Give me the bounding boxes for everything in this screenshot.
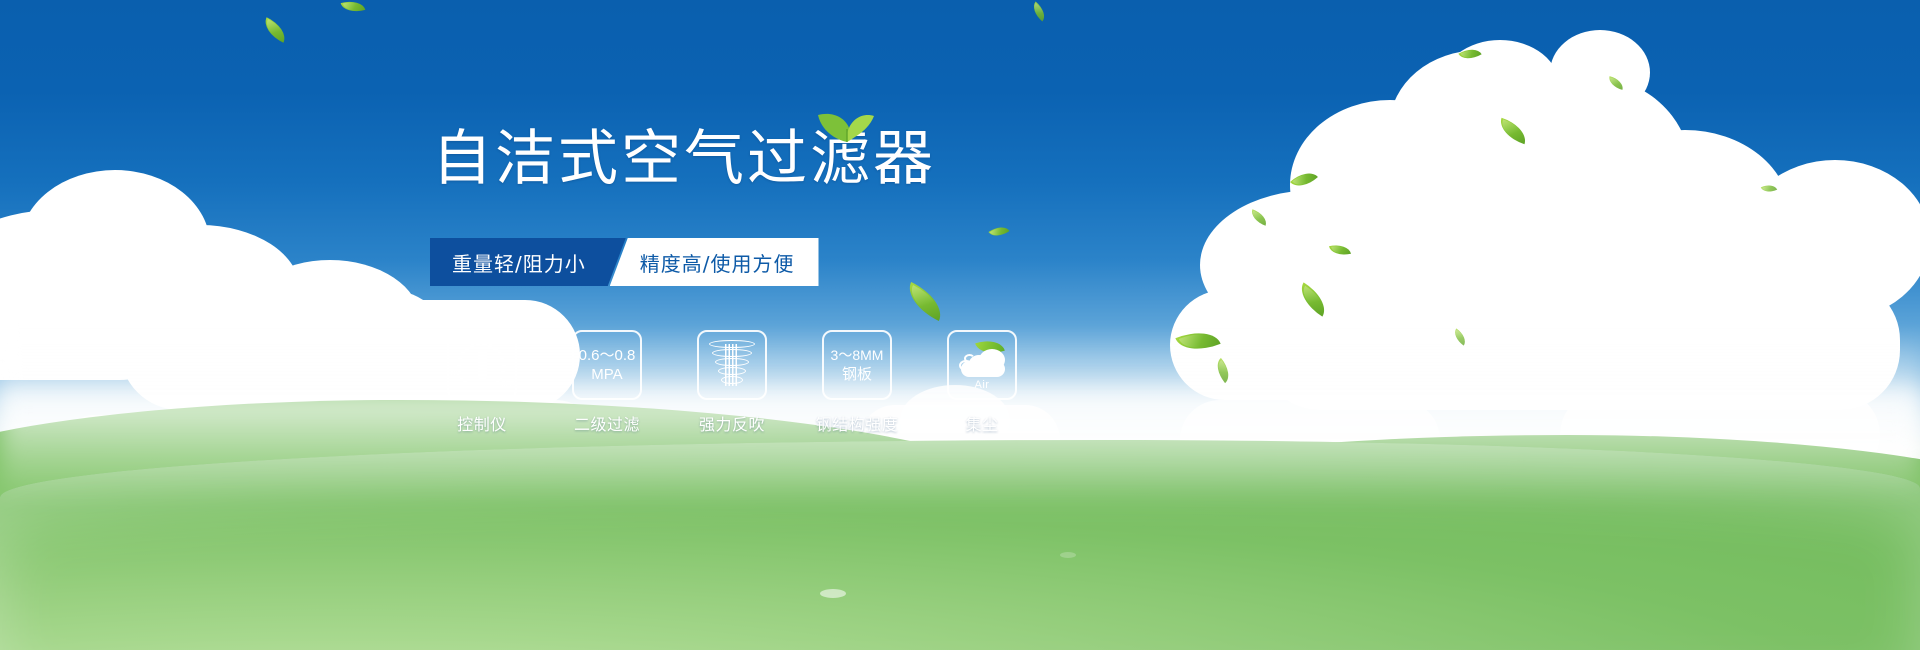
controller-icon-box: NO OFF <box>447 330 517 400</box>
pressure-icon-box: 0.6～0.8 MPA <box>572 330 642 400</box>
title-leaf-icon <box>817 92 875 126</box>
feature-badge-group: 重量轻/阻力小 精度高/使用方便 <box>430 238 819 286</box>
feature-item-two-stage-filter[interactable]: 0.6～0.8 MPA 二级过滤 <box>565 330 649 435</box>
page-title: 自洁式空气过滤器 <box>432 128 936 190</box>
air-label: Air <box>955 379 1009 391</box>
steel-plate-icon-box: 3～8MM 钢板 <box>822 330 892 400</box>
gauge-needle <box>478 350 487 381</box>
feature-caption: 控制仪 <box>457 411 507 435</box>
feature-caption: 二级过滤 <box>574 411 640 435</box>
gauge-label-off: OFF <box>501 382 514 388</box>
feature-item-steel-strength[interactable]: 3～8MM 钢板 钢结构强度 <box>815 330 899 435</box>
feature-item-strong-blowback[interactable]: 强力反吹 <box>690 330 774 435</box>
feature-caption: 强力反吹 <box>699 411 765 435</box>
gauge-dial-icon: NO OFF <box>456 341 508 389</box>
pressure-value-line1: 0.6～0.8 <box>579 346 636 365</box>
dust-icon-box: Air <box>947 330 1017 400</box>
feature-caption: 钢结构强度 <box>816 411 899 435</box>
feature-caption: 集尘 <box>965 411 998 435</box>
hero-content: 自洁式空气过滤器 重量轻/阻力小 精度高/使用方便 <box>0 0 1920 650</box>
blowback-icon-box <box>697 330 767 400</box>
filter-cartridge-blowback-icon <box>708 340 756 390</box>
gauge-label-no: NO <box>451 371 461 377</box>
badge-weight-resistance[interactable]: 重量轻/阻力小 <box>430 238 626 286</box>
steel-thickness-line1: 3～8MM <box>831 346 884 365</box>
feature-item-controller[interactable]: NO OFF 控制仪 <box>440 330 524 435</box>
feature-icon-row: NO OFF 控制仪 0.6～0.8 MPA 二级过滤 <box>440 330 1024 435</box>
pressure-value-line2: MPA <box>591 365 622 384</box>
feature-item-dust-collection[interactable]: Air 集尘 <box>940 330 1024 435</box>
steel-thickness-line2: 钢板 <box>842 365 872 384</box>
air-cloud-dust-icon: Air <box>955 343 1009 387</box>
product-hero-banner: 自洁式空气过滤器 重量轻/阻力小 精度高/使用方便 <box>0 0 1920 650</box>
badge-precision-convenience[interactable]: 精度高/使用方便 <box>610 238 819 286</box>
